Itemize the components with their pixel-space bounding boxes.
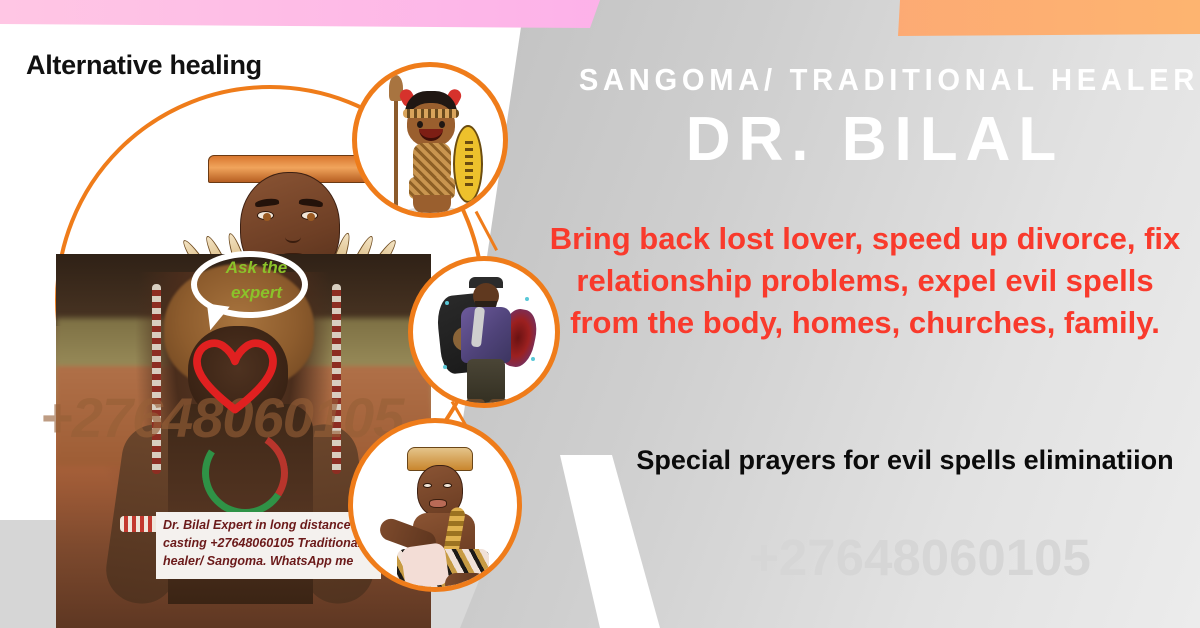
- phone-number-ghost: +27648060105: [640, 528, 1200, 587]
- brand-name: DR. BILAL: [560, 104, 1190, 175]
- callout-zulu-warrior-cartoon: [352, 62, 508, 218]
- callout-sangoma-dancer-illustration: [348, 418, 522, 592]
- speech-bubble-tail-icon: [203, 304, 229, 333]
- caption-line-2: casting +27648060105 Traditional: [163, 535, 374, 553]
- caption-line-1: Dr. Bilal Expert in long distance: [163, 517, 374, 535]
- caption-line-3: healer/ Sangoma. WhatsApp me: [163, 553, 374, 571]
- services-description: Bring back lost lover, speed up divorce,…: [540, 218, 1190, 344]
- heart-outline-icon: [192, 337, 278, 415]
- kicker-subtitle: SANGOMA/ TRADITIONAL HEALER: [579, 62, 1171, 98]
- callout-traditional-healer-figure: [408, 256, 560, 408]
- advertisement-poster: Alternative healing: [0, 0, 1200, 628]
- special-prayers-text: Special prayers for evil spells eliminat…: [620, 443, 1190, 479]
- left-composition: Alternative healing: [0, 0, 560, 628]
- connector-line-1: [475, 211, 498, 251]
- photo-caption-box: Dr. Bilal Expert in long distance castin…: [156, 512, 381, 579]
- speech-bubble-label: Ask the expert: [204, 256, 309, 305]
- page-title: Alternative healing: [26, 50, 262, 81]
